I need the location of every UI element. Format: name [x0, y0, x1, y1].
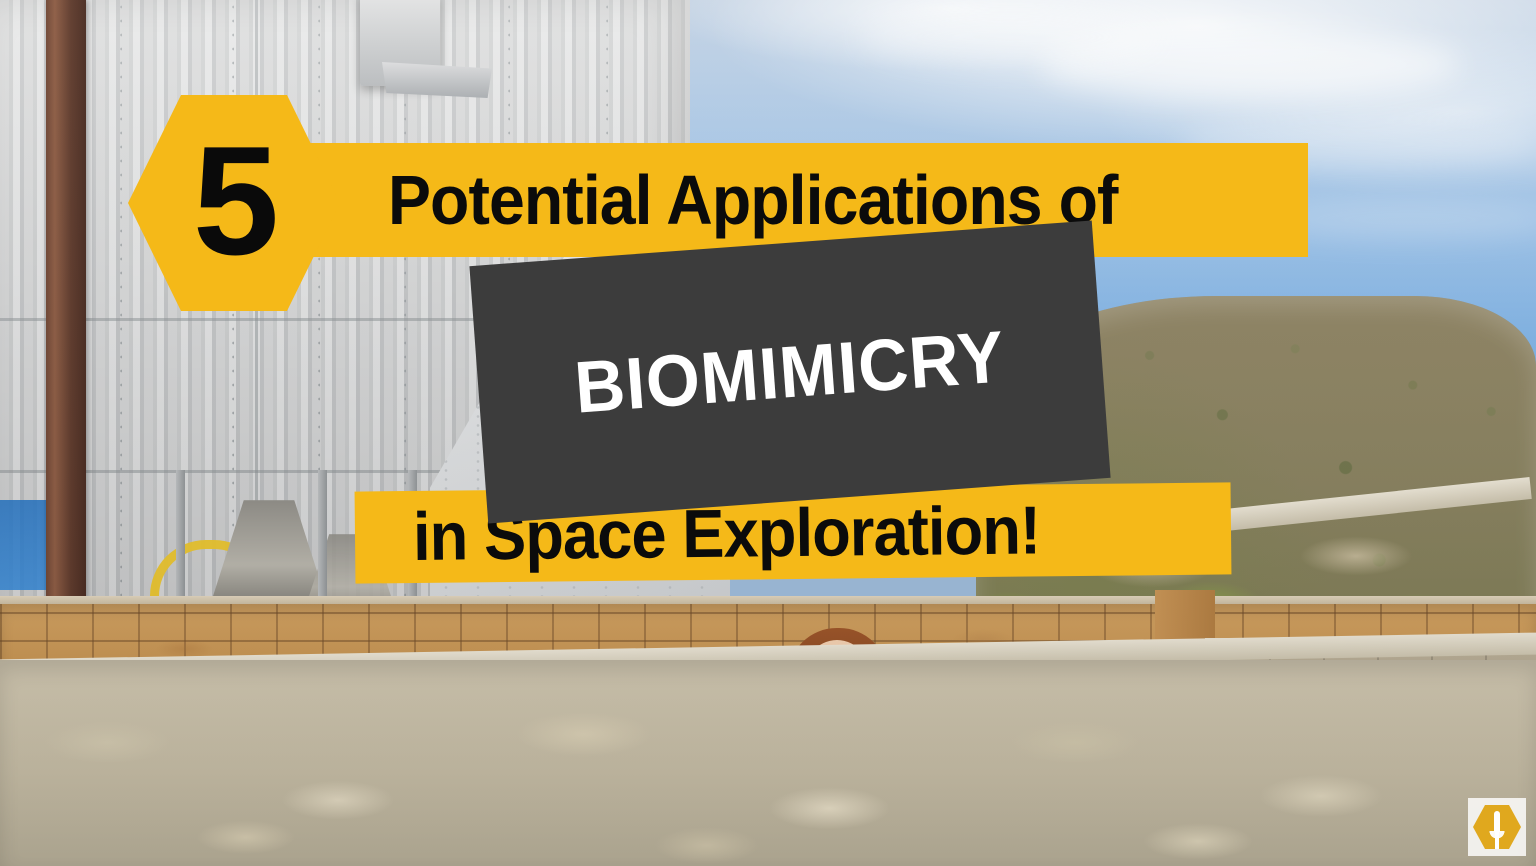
video-title-card: 5 Potential Applications of BIOMIMICRY i… [0, 0, 1536, 866]
title-line-1-bar: Potential Applications of [300, 143, 1308, 257]
title-line-2-text: BIOMIMICRY [572, 315, 1008, 429]
number-badge-value: 5 [193, 123, 275, 278]
logo-hexagon-shape [1473, 805, 1521, 849]
rocket-hexagon-logo-icon [1468, 798, 1526, 856]
title-line-2-band: BIOMIMICRY [469, 220, 1110, 523]
title-overlay: 5 Potential Applications of BIOMIMICRY i… [0, 0, 1536, 866]
number-badge-hexagon: 5 [128, 95, 340, 311]
